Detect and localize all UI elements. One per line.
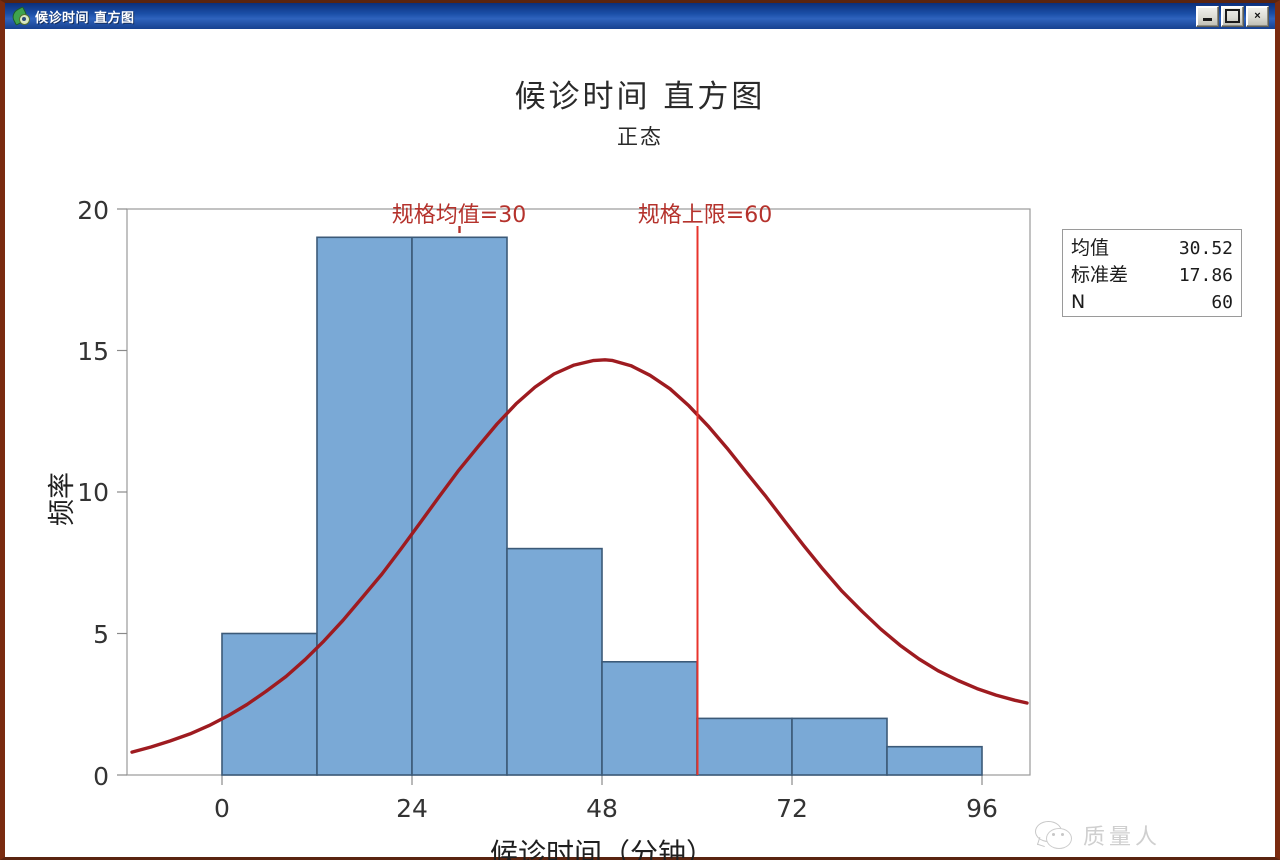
x-tick-label: 72 [776, 794, 808, 823]
stat-label-mean: 均值 [1071, 235, 1109, 262]
window-titlebar[interactable]: 候诊时间 直方图 × [5, 3, 1275, 29]
stat-row-n: N 60 [1071, 289, 1233, 316]
histogram-bar [697, 718, 792, 775]
spec-mean-label: 规格均值=30 [392, 203, 526, 228]
stat-row-mean: 均值 30.52 [1071, 235, 1233, 262]
x-tick-label: 0 [214, 794, 230, 823]
x-tick-label: 24 [396, 794, 428, 823]
plot-area: 20 15 10 5 0 0 24 48 72 96 候诊时间（分钟） 频率 [5, 29, 1275, 860]
stat-value-mean: 30.52 [1179, 236, 1233, 262]
histogram-bar [887, 747, 982, 775]
wechat-logo-icon [1035, 820, 1075, 850]
stat-value-stdev: 17.86 [1179, 263, 1233, 289]
y-axis-label: 频率 [47, 472, 78, 526]
watermark-text: 质量人 [1083, 819, 1161, 851]
y-tick-label: 20 [77, 196, 109, 225]
y-axis-ticks [117, 209, 127, 775]
minitab-graph-icon [11, 7, 31, 25]
application-window: 候诊时间 直方图 × 候诊时间 直方图 正态 [0, 0, 1280, 860]
stat-row-stdev: 标准差 17.86 [1071, 262, 1233, 289]
x-axis-ticks [222, 775, 982, 785]
x-tick-label: 96 [966, 794, 998, 823]
statistics-box: 均值 30.52 标准差 17.86 N 60 [1062, 229, 1242, 317]
y-tick-labels: 20 15 10 5 0 [77, 196, 109, 791]
close-button[interactable]: × [1246, 6, 1269, 27]
graph-canvas: 候诊时间 直方图 正态 [5, 29, 1275, 857]
window-title: 候诊时间 直方图 [35, 7, 1196, 26]
x-tick-labels: 0 24 48 72 96 [214, 794, 998, 823]
x-tick-label: 48 [586, 794, 618, 823]
histogram-svg: 20 15 10 5 0 0 24 48 72 96 候诊时间（分钟） 频率 [5, 29, 1275, 860]
minimize-button[interactable] [1196, 6, 1219, 27]
close-icon: × [1247, 7, 1268, 26]
stat-label-stdev: 标准差 [1071, 262, 1128, 289]
stat-value-n: 60 [1211, 290, 1233, 316]
maximize-button[interactable] [1221, 6, 1244, 27]
x-axis-label: 候诊时间（分钟） [490, 837, 714, 860]
histogram-bar [507, 549, 602, 775]
y-tick-label: 10 [77, 478, 109, 507]
histogram-bar [222, 634, 317, 776]
y-tick-label: 5 [93, 620, 109, 649]
y-tick-label: 0 [93, 762, 109, 791]
histogram-bar [317, 237, 412, 775]
spec-upper-limit-label: 规格上限=60 [638, 203, 772, 228]
stat-label-n: N [1071, 289, 1085, 316]
watermark: 质量人 [1035, 811, 1265, 859]
histogram-bar [602, 662, 697, 775]
y-tick-label: 15 [77, 337, 109, 366]
histogram-bar [792, 718, 887, 775]
histogram-bar [412, 237, 507, 775]
window-controls: × [1196, 6, 1273, 27]
